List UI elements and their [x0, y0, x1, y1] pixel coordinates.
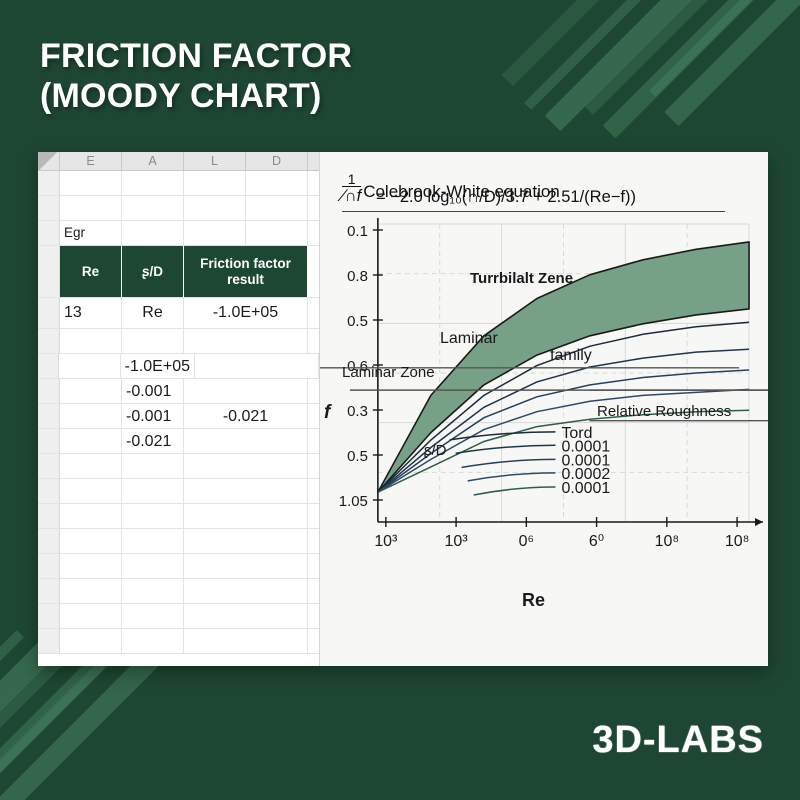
spreadsheet-column-headers: E A L D — [38, 152, 319, 171]
column-header-2[interactable]: L — [184, 152, 246, 170]
table-row[interactable]: -0.001 — [38, 379, 319, 404]
svg-text:0⁶: 0⁶ — [519, 533, 534, 550]
row-header[interactable] — [38, 604, 60, 628]
cell[interactable] — [184, 429, 308, 453]
svg-text:10³: 10³ — [374, 533, 397, 550]
table-header-roughness: ʂ/D — [122, 246, 184, 297]
spreadsheet-pane[interactable]: E A L D Egr — [38, 152, 319, 666]
svg-text:0.0001: 0.0001 — [561, 480, 610, 497]
row-header[interactable] — [38, 429, 60, 453]
cell-spill-2[interactable]: -0.001 — [122, 404, 184, 428]
cell[interactable] — [246, 171, 308, 195]
row-header[interactable] — [38, 479, 60, 503]
cell[interactable] — [60, 504, 122, 528]
cell[interactable] — [60, 404, 122, 428]
table-row[interactable] — [38, 454, 319, 479]
moody-chart-svg: 0.10.80.50.60.30.51.05 10³10³0⁶6⁰10⁸10⁸ … — [320, 210, 768, 590]
annotation-laminar-zone: Laminar Zone — [342, 364, 435, 381]
row-header[interactable] — [38, 354, 59, 378]
cell[interactable] — [60, 454, 122, 478]
cell[interactable] — [184, 504, 308, 528]
cell[interactable] — [122, 554, 184, 578]
cell[interactable] — [184, 579, 308, 603]
cell[interactable] — [122, 329, 184, 353]
cell[interactable] — [195, 354, 319, 378]
table-row[interactable] — [38, 554, 319, 579]
table-header-friction-factor: Friction factor result — [184, 246, 308, 297]
cell[interactable] — [59, 354, 121, 378]
cell[interactable] — [122, 454, 184, 478]
svg-text:10³: 10³ — [445, 533, 468, 550]
cell[interactable] — [122, 579, 184, 603]
cell[interactable] — [122, 479, 184, 503]
svg-text:0.5: 0.5 — [347, 313, 368, 330]
legend-labels: Tord0.00010.00010.00020.0001 — [561, 425, 610, 497]
svg-text:0.8: 0.8 — [347, 268, 368, 285]
cell[interactable] — [122, 221, 184, 245]
cell-spill-1[interactable]: -0.001 — [122, 379, 184, 403]
table-row[interactable] — [38, 579, 319, 604]
select-all-corner[interactable] — [38, 152, 60, 170]
row-header[interactable] — [38, 246, 60, 297]
cell[interactable] — [60, 579, 122, 603]
row-header[interactable] — [38, 329, 60, 353]
equation-body: = −2.0 log₁₀(∩/D)/3.7 + 2.51/(Re−f)) — [376, 187, 758, 208]
cell[interactable] — [122, 171, 184, 195]
svg-text:1.05: 1.05 — [339, 493, 368, 510]
cell[interactable] — [184, 329, 308, 353]
cell-re-value[interactable]: Re — [122, 298, 184, 328]
equation-numerator: 1 — [342, 172, 361, 186]
table-row[interactable]: 13 Re -1.0E+05 — [38, 298, 319, 329]
row-header[interactable] — [38, 298, 60, 328]
cell-egr[interactable]: Egr — [60, 221, 122, 245]
chart-pane: 1 ⁄∩f Colebrook-White equation = −2.0 lo… — [319, 152, 768, 666]
poster-root: FRICTION FACTOR (MOODY CHART) E A L D — [0, 0, 800, 800]
column-header-1[interactable]: A — [122, 152, 184, 170]
cell-row-label[interactable]: 13 — [60, 298, 122, 328]
cell[interactable] — [60, 171, 122, 195]
cell[interactable] — [184, 554, 308, 578]
page-title: FRICTION FACTOR (MOODY CHART) — [40, 36, 352, 116]
cell-spill-0[interactable]: -1.0E+05 — [121, 354, 195, 378]
column-header-3[interactable]: D — [246, 152, 308, 170]
cell[interactable] — [60, 479, 122, 503]
table-row[interactable] — [38, 329, 319, 354]
row-header[interactable] — [38, 579, 60, 603]
column-header-0[interactable]: E — [60, 152, 122, 170]
equation-block: 1 ⁄∩f Colebrook-White equation = −2.0 lo… — [342, 172, 758, 212]
cell[interactable] — [60, 554, 122, 578]
cell[interactable] — [122, 196, 184, 220]
row-header[interactable] — [38, 454, 60, 478]
cell[interactable] — [184, 379, 308, 403]
table-row[interactable] — [38, 171, 319, 196]
equation-denominator: ⁄∩f — [342, 186, 361, 205]
cell[interactable] — [60, 629, 122, 653]
cell[interactable] — [60, 196, 122, 220]
svg-text:6⁰: 6⁰ — [589, 533, 604, 550]
svg-text:10⁸: 10⁸ — [725, 533, 749, 550]
row-header[interactable] — [38, 196, 60, 220]
table-row[interactable]: -0.001 -0.021 — [38, 404, 319, 429]
cell-spill-3[interactable]: -0.021 — [122, 429, 184, 453]
annotation-turbulent-zone: Turrbilalt Zene — [470, 270, 573, 287]
row-header[interactable] — [38, 504, 60, 528]
brand-logo: 3D-LABS — [592, 719, 764, 762]
row-header[interactable] — [38, 629, 60, 653]
svg-text:0.3: 0.3 — [347, 403, 368, 420]
svg-text:0.5: 0.5 — [347, 448, 368, 465]
table-row[interactable] — [38, 479, 319, 504]
table-row[interactable]: -0.021 — [38, 429, 319, 454]
cell[interactable] — [184, 529, 308, 553]
cell[interactable] — [60, 529, 122, 553]
row-header[interactable] — [38, 404, 60, 428]
cell[interactable] — [60, 379, 122, 403]
legend-leader-lines — [450, 432, 556, 495]
cell[interactable] — [122, 629, 184, 653]
cell[interactable] — [184, 604, 308, 628]
cell[interactable] — [246, 221, 308, 245]
table-row[interactable] — [38, 529, 319, 554]
cell[interactable] — [122, 504, 184, 528]
table-row[interactable] — [38, 504, 319, 529]
table-row[interactable]: -1.0E+05 — [38, 354, 319, 379]
svg-text:0.1: 0.1 — [347, 223, 368, 240]
row-header[interactable] — [38, 529, 60, 553]
cell[interactable] — [60, 429, 122, 453]
row-header[interactable] — [38, 379, 60, 403]
table-row[interactable] — [38, 604, 319, 629]
cell[interactable] — [122, 604, 184, 628]
table-header-re: Re — [60, 246, 122, 297]
row-header[interactable] — [38, 554, 60, 578]
cell[interactable] — [184, 221, 246, 245]
cell[interactable] — [184, 196, 246, 220]
cell[interactable] — [184, 479, 308, 503]
svg-text:10⁸: 10⁸ — [655, 533, 679, 550]
table-header-row: Re ʂ/D Friction factor result — [38, 246, 319, 298]
annotation-relative-roughness: Relative Roughness — [597, 403, 731, 420]
cell[interactable] — [60, 604, 122, 628]
table-row[interactable] — [38, 196, 319, 221]
y-axis-title: f — [324, 402, 330, 424]
cell[interactable] — [184, 454, 308, 478]
annotation-epsilon-over-d: ʂ/D — [424, 442, 447, 459]
x-axis-title: Re — [522, 590, 545, 611]
cell[interactable] — [184, 629, 308, 653]
cell[interactable] — [60, 329, 122, 353]
cell-friction-result[interactable]: -1.0E+05 — [184, 298, 308, 328]
row-header[interactable] — [38, 221, 60, 245]
row-header[interactable] — [38, 171, 60, 195]
annotation-laminar: Laminar — [440, 330, 498, 348]
equation-fraction: 1 ⁄∩f — [342, 172, 361, 205]
table-row-name-cell[interactable]: Egr — [38, 221, 319, 246]
cell[interactable] — [184, 171, 246, 195]
content-card: E A L D Egr — [38, 152, 768, 666]
cell[interactable] — [122, 529, 184, 553]
cell[interactable] — [246, 196, 308, 220]
brand-text: 3D-LABS — [592, 719, 764, 761]
cell-spill-extra[interactable]: -0.021 — [184, 404, 308, 428]
table-row[interactable] — [38, 629, 319, 654]
annotation-family: family — [550, 347, 592, 365]
